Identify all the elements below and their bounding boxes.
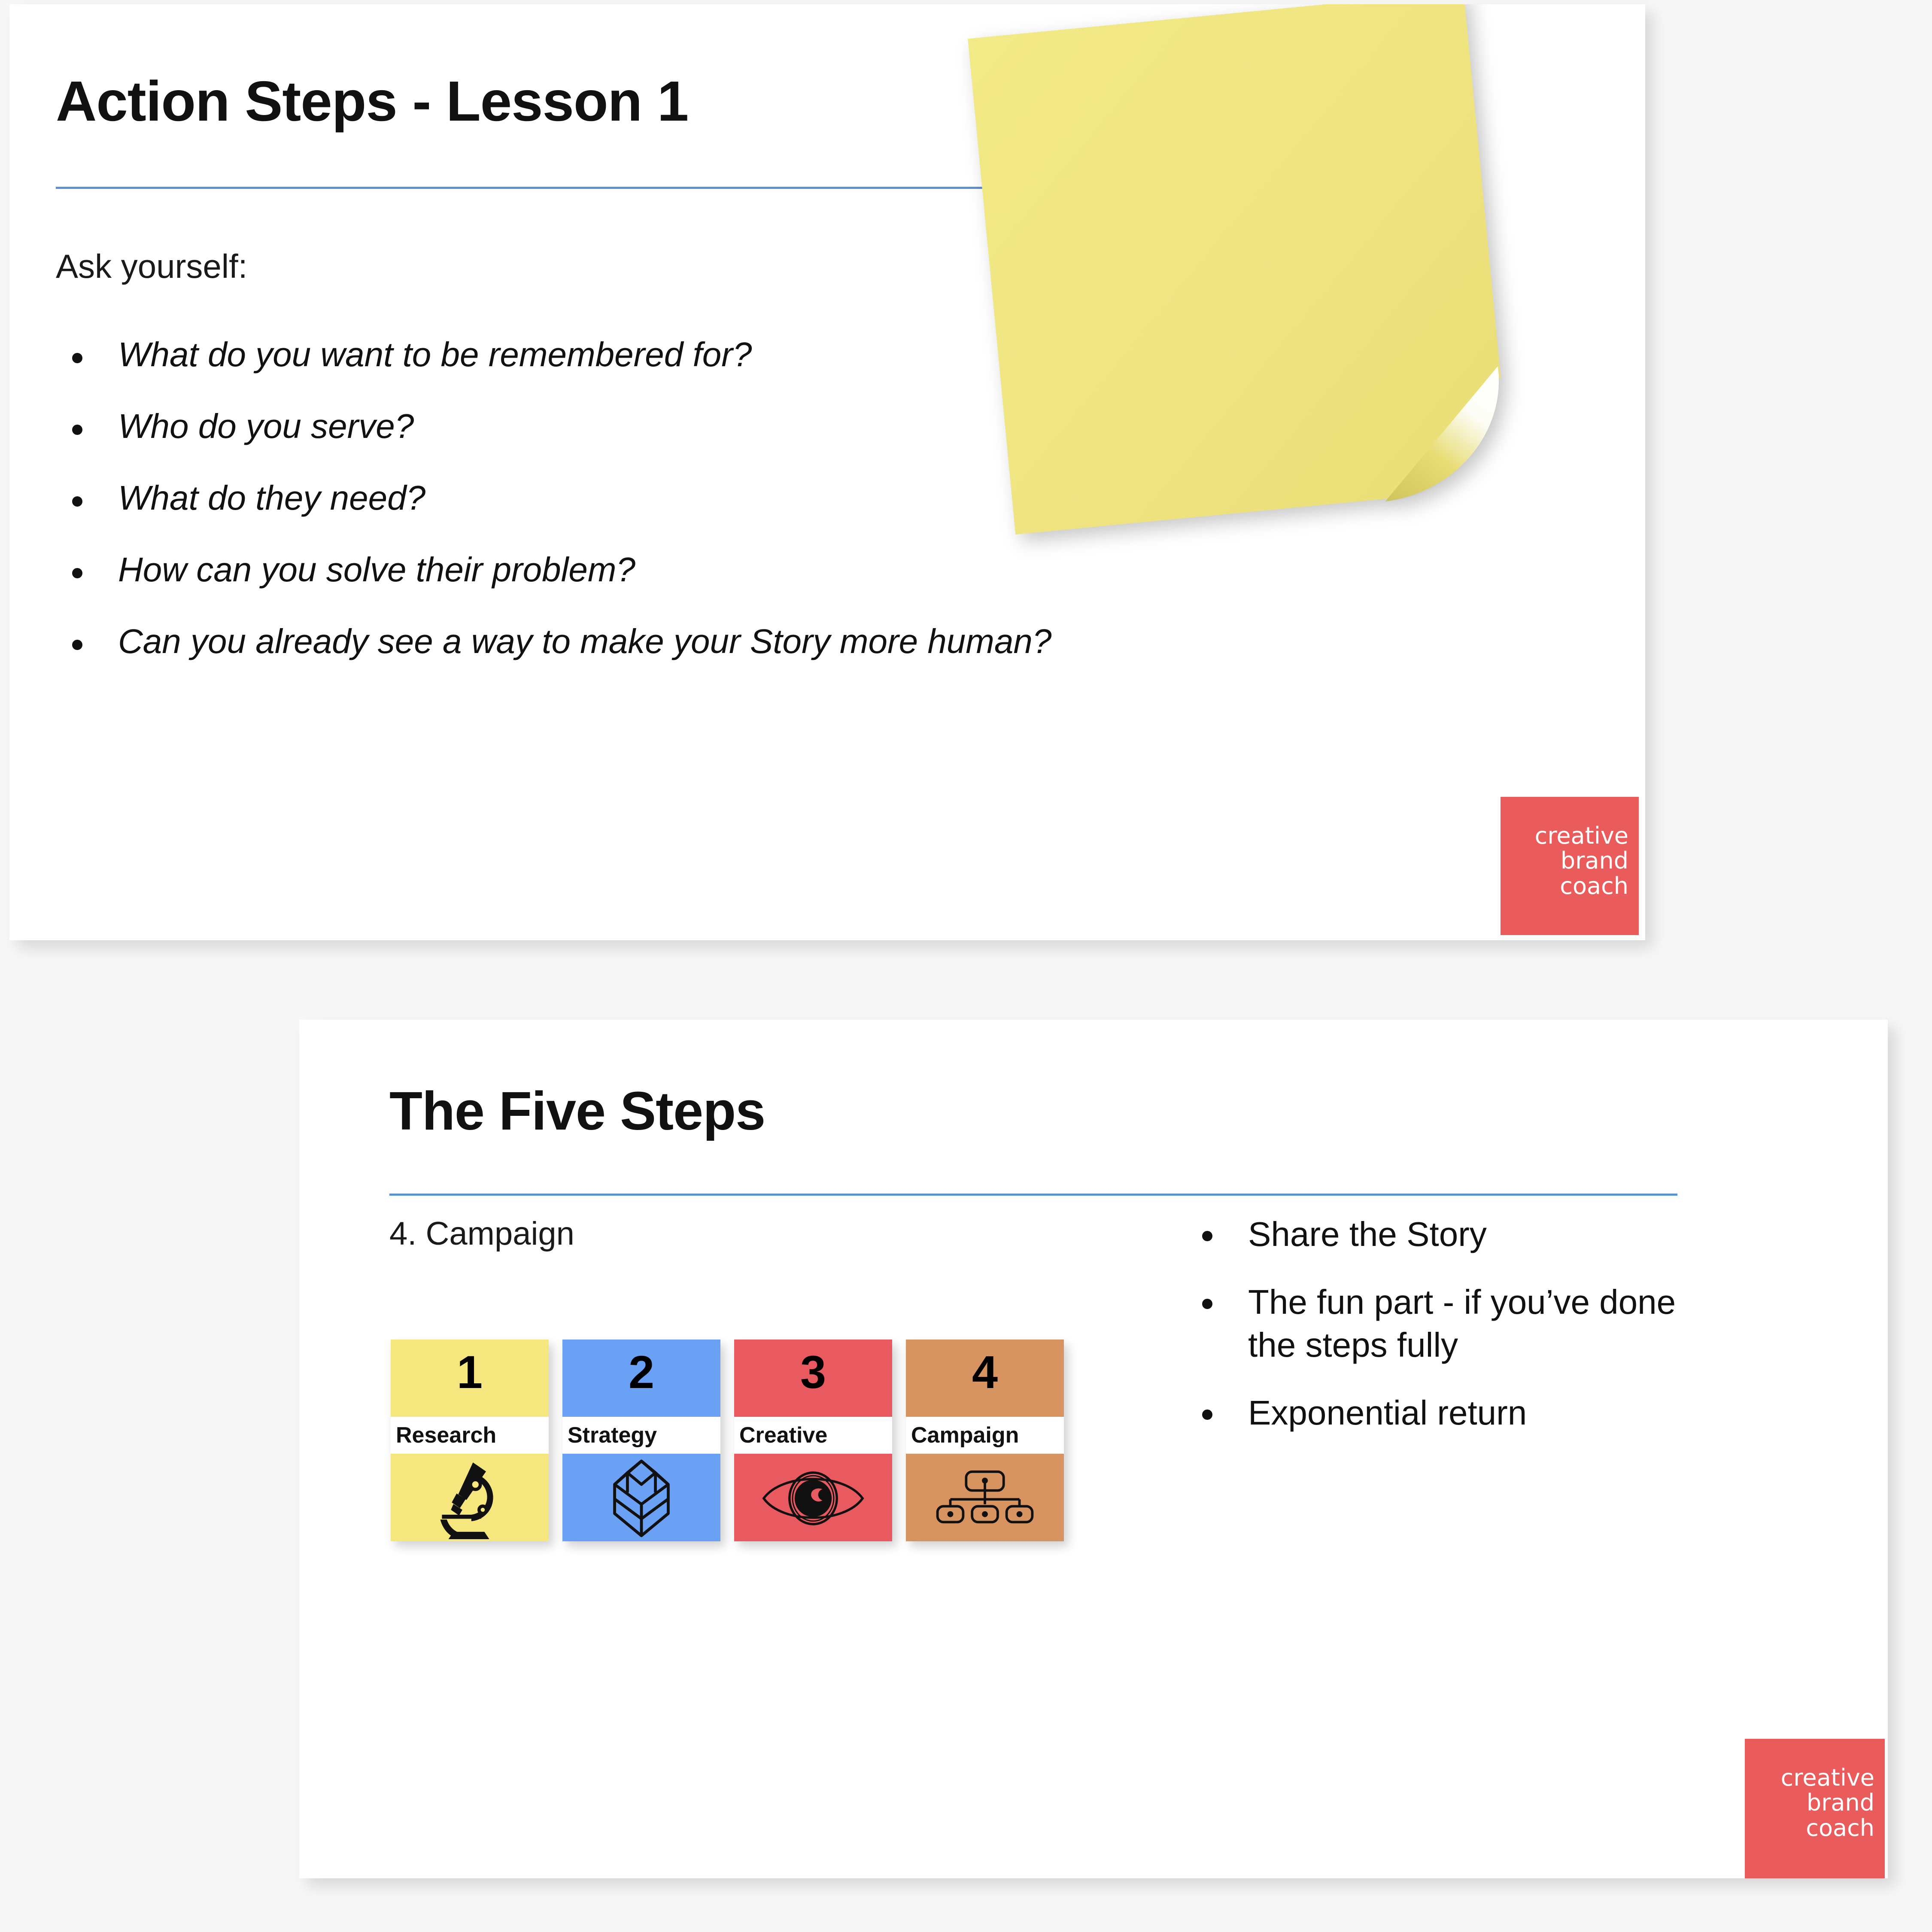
step-card-campaign[interactable]: 4 Campaign (906, 1340, 1064, 1541)
step-label: Research (391, 1422, 496, 1448)
step-label: Campaign (906, 1422, 1019, 1448)
slide-five-steps: The Five Steps 4. Campaign Share the Sto… (299, 1020, 1888, 1878)
brand-logo-line-2: brand (1745, 1790, 1874, 1815)
slide1-title-rule (56, 187, 1043, 189)
slide2-title: The Five Steps (389, 1080, 765, 1142)
step-number: 3 (734, 1349, 892, 1395)
brand-logo-line-3: coach (1501, 874, 1628, 899)
brand-logo-line-1: creative (1501, 823, 1628, 848)
step-card-creative[interactable]: 3 Creative (734, 1340, 892, 1541)
slide1-lead-text: Ask yourself: (56, 247, 247, 286)
step-label-band: Strategy (562, 1417, 720, 1454)
step-label-band: Research (391, 1417, 549, 1454)
list-item: Share the Story (1186, 1213, 1701, 1256)
step-number: 4 (906, 1349, 1064, 1395)
step-label: Strategy (562, 1422, 657, 1448)
eye-icon (734, 1460, 892, 1537)
microscope-icon (391, 1460, 549, 1537)
slide1-title: Action Steps - Lesson 1 (56, 69, 688, 134)
slide-action-steps: Action Steps - Lesson 1 Ask yourself: Wh… (9, 4, 1645, 940)
step-card-strategy[interactable]: 2 Strategy (562, 1340, 720, 1541)
step-number: 2 (562, 1349, 720, 1395)
brand-logo-line-2: brand (1501, 848, 1628, 873)
brand-logo: creative brand coach (1501, 797, 1639, 935)
list-item: The fun part - if you’ve done the steps … (1186, 1281, 1701, 1367)
step-number: 1 (391, 1349, 549, 1395)
slide2-bullet-list: Share the Story The fun part - if you’ve… (1186, 1213, 1701, 1459)
sticky-note (968, 4, 1511, 535)
slide2-title-rule (389, 1194, 1677, 1196)
brand-logo-line-1: creative (1745, 1765, 1874, 1790)
step-label-band: Campaign (906, 1417, 1064, 1454)
slide2-step-label: 4. Campaign (389, 1215, 574, 1252)
list-item: Can you already see a way to make your S… (56, 622, 1344, 661)
step-card-research[interactable]: 1 Research (391, 1340, 549, 1541)
brand-logo: creative brand coach (1745, 1739, 1885, 1878)
step-label: Creative (734, 1422, 827, 1448)
brand-logo-line-3: coach (1745, 1816, 1874, 1841)
list-item: How can you solve their problem? (56, 550, 1344, 589)
cube-icon (562, 1460, 720, 1537)
org-chart-icon (906, 1460, 1064, 1537)
step-label-band: Creative (734, 1417, 892, 1454)
list-item: Exponential return (1186, 1391, 1701, 1434)
